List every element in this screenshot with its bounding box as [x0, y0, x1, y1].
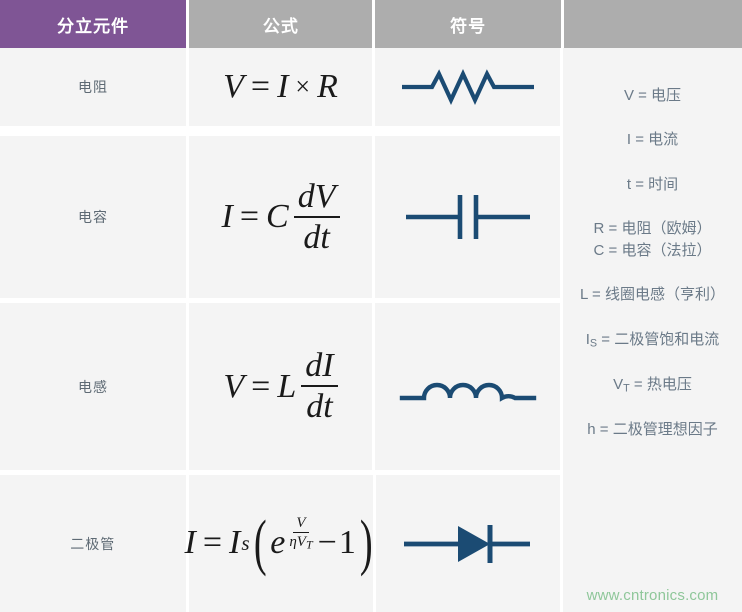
table-body: 电阻 V = I × R	[0, 48, 742, 612]
header-label-symbol: 符号	[450, 12, 486, 37]
formula-capacitor: I = C dV dt	[222, 180, 340, 255]
paren-open: (	[254, 519, 267, 567]
inductor-symbol	[398, 365, 538, 409]
formula-term: I	[229, 526, 240, 560]
formula-exponential: e V ηVT	[270, 526, 315, 560]
table-row: 二极管 I = Is ( e V ηVT	[0, 470, 560, 612]
cell-component-name: 电阻	[0, 48, 186, 126]
legend-text: = 热电压	[630, 376, 692, 393]
formula-diode: I = Is ( e V ηVT − 1 )	[185, 519, 377, 567]
exponent-fraction: V ηVT	[286, 516, 315, 550]
formula-operator-minus: −	[318, 526, 337, 560]
exponent-denominator: ηVT	[286, 533, 315, 550]
table-row: 电容 I = C dV dt	[0, 131, 560, 298]
resistor-symbol	[402, 67, 534, 107]
formula-term: I	[277, 70, 288, 104]
legend-text: = 时间	[631, 176, 678, 193]
header-cell-legend	[564, 0, 742, 48]
legend-column: V = 电压 I = 电流 t = 时间 R = 电阻（欧姆） C = 电容（法…	[560, 48, 742, 612]
cell-component-name: 二极管	[0, 475, 186, 612]
legend-text: = 电流	[631, 131, 678, 148]
fraction-numerator: dV	[294, 180, 340, 218]
formula-fraction: dI dt	[301, 349, 337, 424]
formula-operator-equals: =	[251, 370, 270, 404]
table-row: 电感 V = L dI dt	[0, 298, 560, 470]
header-label-formula: 公式	[263, 12, 299, 37]
legend-text: = 电压	[634, 87, 681, 104]
diode-symbol	[402, 519, 534, 569]
formula-subscript: s	[241, 533, 249, 554]
cell-component-name: 电感	[0, 303, 186, 470]
header-cell-formula: 公式	[189, 0, 372, 48]
table-left-columns: 电阻 V = I × R	[0, 48, 560, 612]
component-label-inductor: 电感	[78, 377, 108, 397]
cell-symbol	[376, 475, 561, 612]
legend-text: = 线圈电感（亨利）	[588, 286, 725, 303]
component-label-capacitor: 电容	[78, 207, 108, 227]
legend-text: = 二极管理想因子	[596, 421, 718, 438]
formula-operator-equals: =	[251, 70, 270, 104]
exponent-numerator: V	[293, 516, 308, 533]
list-item: C = 电容（法拉）	[571, 241, 734, 261]
cell-component-name: 电容	[0, 136, 186, 298]
fraction-denominator: dt	[299, 218, 333, 255]
list-item: IS = 二极管饱和电流	[571, 330, 734, 351]
legend-symbol: h	[587, 421, 595, 438]
formula-term: R	[317, 70, 338, 104]
component-label-resistor: 电阻	[78, 77, 108, 97]
list-item: L = 线圈电感（亨利）	[571, 285, 734, 305]
formula-operator-equals: =	[240, 200, 259, 234]
table-header-row: 分立元件 公式 符号	[0, 0, 742, 48]
legend-symbol: V	[613, 376, 623, 393]
legend-text: = 电容（法拉）	[604, 242, 711, 259]
vt-symbol: V	[297, 534, 306, 550]
list-item: t = 时间	[571, 175, 734, 195]
formula-term-one: 1	[339, 526, 356, 560]
formula-fraction: dV dt	[294, 180, 340, 255]
legend-subscript: T	[623, 382, 630, 394]
list-item: V = 电压	[571, 86, 734, 106]
component-label-diode: 二极管	[70, 534, 115, 554]
fraction-numerator: dI	[301, 349, 337, 387]
list-item: R = 电阻（欧姆）	[571, 219, 734, 239]
legend-text: = 电阻（欧姆）	[604, 220, 711, 237]
exponential-base: e	[270, 526, 285, 560]
cell-symbol	[375, 48, 560, 126]
formula-resistor: V = I × R	[223, 70, 338, 104]
formula-operator-equals: =	[203, 526, 222, 560]
list-item: h = 二极管理想因子	[571, 420, 734, 440]
header-cell-component: 分立元件	[0, 0, 186, 48]
cell-symbol	[375, 136, 560, 298]
formula-operator-times: ×	[295, 74, 310, 100]
cell-formula: I = Is ( e V ηVT − 1 )	[189, 475, 373, 612]
watermark: www.cntronics.com	[563, 587, 742, 604]
formula-term: V	[223, 70, 244, 104]
vt-subscript: T	[306, 538, 313, 552]
paren-close: )	[360, 519, 373, 567]
legend-symbol: L	[580, 286, 588, 303]
fraction-denominator: dt	[302, 387, 336, 424]
capacitor-symbol	[402, 189, 534, 245]
component-formula-table: 分立元件 公式 符号 电阻 V = I	[0, 0, 742, 612]
list-item: VT = 热电压	[571, 375, 734, 396]
formula-term: I	[185, 526, 196, 560]
formula-term: I	[222, 200, 233, 234]
legend-symbol: C	[594, 242, 605, 259]
list-item: I = 电流	[571, 130, 734, 150]
table-row: 电阻 V = I × R	[0, 48, 560, 131]
legend-list: V = 电压 I = 电流 t = 时间 R = 电阻（欧姆） C = 电容（法…	[563, 48, 742, 612]
formula-term: C	[266, 200, 289, 234]
eta-symbol: η	[289, 534, 296, 550]
cell-symbol	[375, 303, 560, 470]
formula-term: V	[223, 370, 244, 404]
cell-formula: V = L dI dt	[189, 303, 372, 470]
legend-text: = 二极管饱和电流	[597, 331, 719, 348]
cell-formula: V = I × R	[189, 48, 372, 126]
header-label-component: 分立元件	[57, 12, 129, 37]
header-cell-symbol: 符号	[375, 0, 560, 48]
formula-inductor: V = L dI dt	[223, 349, 337, 424]
legend-symbol: V	[624, 87, 634, 104]
legend-symbol: R	[594, 220, 605, 237]
formula-term: L	[277, 370, 296, 404]
cell-formula: I = C dV dt	[189, 136, 372, 298]
